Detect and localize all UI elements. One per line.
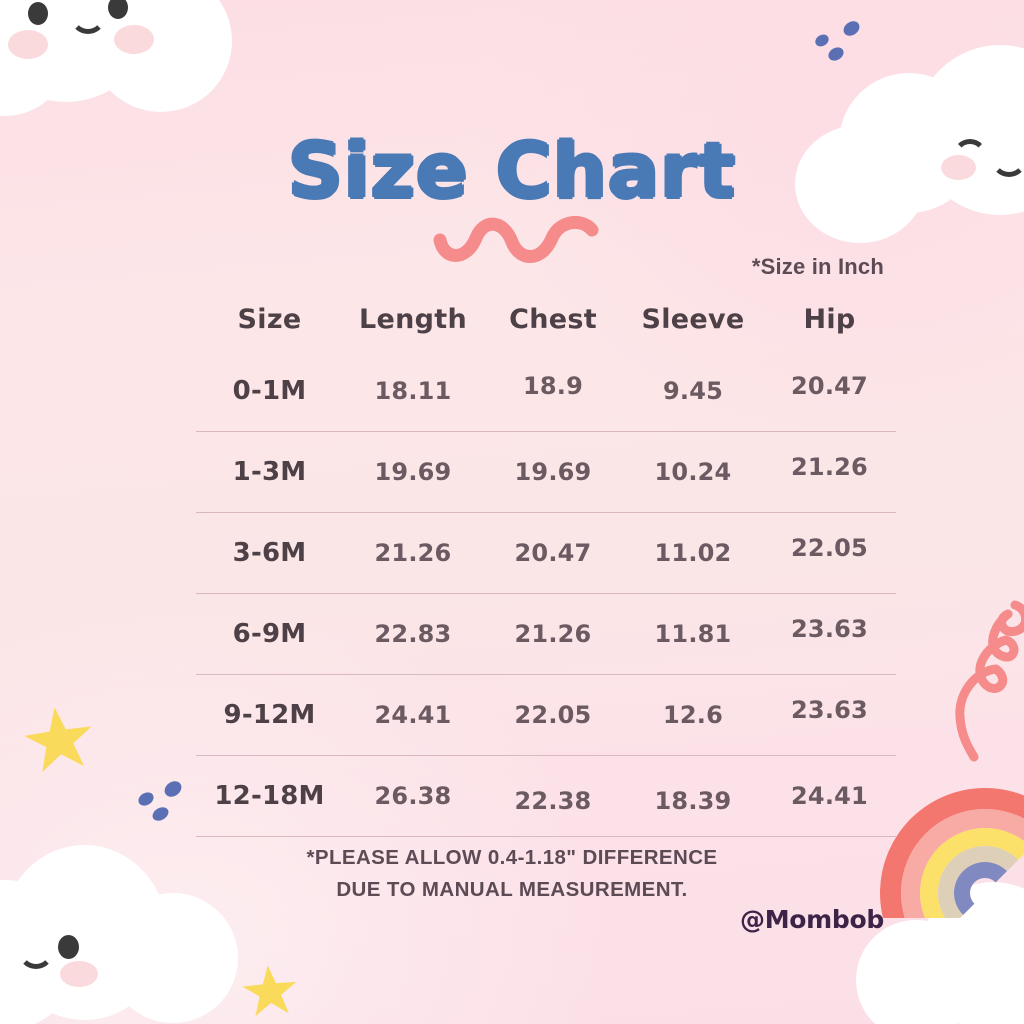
size-table-container: Size Length Chest Sleeve Hip 0-1M 18.11 …: [196, 300, 896, 837]
cell-size: 3-6M: [196, 513, 343, 594]
cell-hip: 23.63: [763, 670, 896, 751]
confetti-dot: [136, 790, 156, 808]
disclaimer-line-1: *PLEASE ALLOW 0.4-1.18" DIFFERENCE: [0, 842, 1024, 874]
table-header: Size Length Chest Sleeve Hip: [196, 300, 896, 351]
column-header-hip: Hip: [763, 300, 896, 351]
cloud-blush: [114, 25, 154, 54]
table-row: 1-3M 19.69 19.69 10.24 21.26: [196, 432, 896, 513]
table-row: 0-1M 18.11 18.9 9.45 20.47: [196, 351, 896, 432]
cell-size: 6-9M: [196, 594, 343, 675]
table-row: 3-6M 21.26 20.47 11.02 22.05: [196, 513, 896, 594]
cell-chest: 21.26: [483, 594, 623, 675]
cloud-blush: [8, 30, 48, 59]
confetti-dot: [162, 778, 185, 800]
table-row: 6-9M 22.83 21.26 11.81 23.63: [196, 594, 896, 675]
cell-length: 18.11: [343, 351, 483, 432]
page-title-wrapper: Size Chart: [0, 126, 1024, 215]
cell-size: 12-18M: [196, 756, 343, 837]
cell-hip: 23.63: [763, 589, 896, 670]
cell-length: 21.26: [343, 513, 483, 594]
unit-note: *Size in Inch: [752, 254, 884, 280]
cell-hip: 21.26: [763, 427, 896, 508]
cell-sleeve: 10.24: [623, 432, 763, 513]
cell-length: 19.69: [343, 432, 483, 513]
cell-sleeve: 12.6: [623, 675, 763, 756]
cloud-eye: [28, 2, 48, 25]
cell-chest: 22.38: [483, 761, 623, 842]
cell-sleeve: 11.81: [623, 594, 763, 675]
star-left: [21, 703, 97, 777]
title-squiggle: [432, 216, 602, 264]
cloud-blush: [60, 961, 98, 987]
cell-sleeve: 18.39: [623, 761, 763, 842]
table-header-row: Size Length Chest Sleeve Hip: [196, 300, 896, 351]
size-chart-canvas: Size Chart *Size in Inch Size Length Che…: [0, 0, 1024, 1024]
cell-sleeve: 9.45: [623, 351, 763, 432]
cell-length: 22.83: [343, 594, 483, 675]
column-header-length: Length: [343, 300, 483, 351]
cell-hip: 22.05: [763, 508, 896, 589]
cell-sleeve: 11.02: [623, 513, 763, 594]
column-header-chest: Chest: [483, 300, 623, 351]
cell-size: 1-3M: [196, 432, 343, 513]
cell-hip: 20.47: [763, 346, 896, 427]
size-table: Size Length Chest Sleeve Hip 0-1M 18.11 …: [196, 300, 896, 837]
cell-hip: 24.41: [763, 756, 896, 837]
cell-size: 0-1M: [196, 351, 343, 432]
table-body: 0-1M 18.11 18.9 9.45 20.47 1-3M 19.69 19…: [196, 351, 896, 837]
cloud-puff: [108, 893, 238, 1023]
cell-length: 26.38: [343, 756, 483, 837]
cell-length: 24.41: [343, 675, 483, 756]
page-title: Size Chart: [288, 126, 736, 215]
cell-chest: 18.9: [483, 346, 623, 427]
disclaimer-line-2: DUE TO MANUAL MEASUREMENT.: [0, 874, 1024, 906]
star-bottom: [241, 963, 299, 1020]
cloud-eye: [58, 935, 79, 959]
column-header-size: Size: [196, 300, 343, 351]
table-row: 12-18M 26.38 22.38 18.39 24.41: [196, 756, 896, 837]
cell-chest: 20.47: [483, 513, 623, 594]
cloud-top-left: [0, 0, 230, 130]
spiral-decoration: [930, 595, 1024, 780]
cell-chest: 19.69: [483, 432, 623, 513]
table-row: 9-12M 24.41 22.05 12.6 23.63: [196, 675, 896, 756]
confetti-dot: [150, 805, 171, 824]
cell-size: 9-12M: [196, 675, 343, 756]
brand-handle: @Mombob: [740, 905, 884, 934]
column-header-sleeve: Sleeve: [623, 300, 763, 351]
disclaimer: *PLEASE ALLOW 0.4-1.18" DIFFERENCE DUE T…: [0, 842, 1024, 906]
cell-chest: 22.05: [483, 675, 623, 756]
